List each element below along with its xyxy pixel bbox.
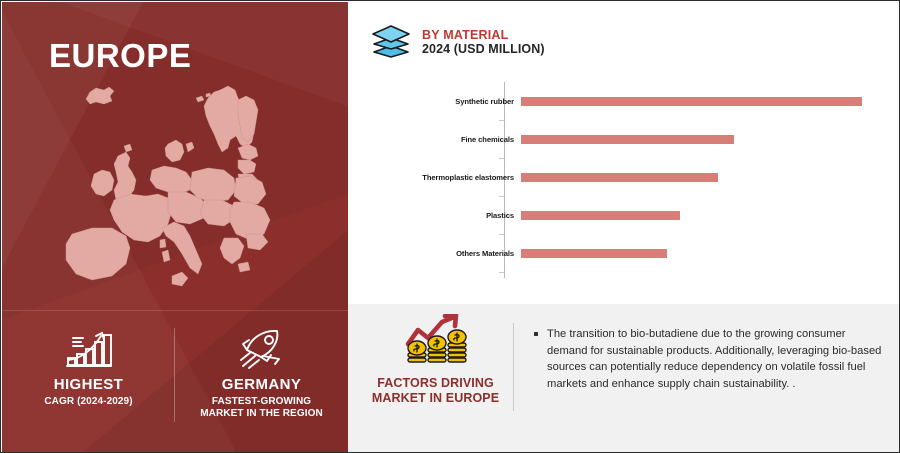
chart-category-label: Thermoplastic elastomers [370, 173, 520, 182]
chart-header: BY MATERIAL 2024 (USD MILLION) [370, 22, 545, 63]
chart-category-label: Others Materials [370, 249, 520, 258]
stat-highest-cagr: HIGHEST CAGR (2024-2029) [2, 322, 175, 442]
chart-bar-row: Thermoplastic elastomers [370, 158, 880, 196]
page-title: EUROPE [49, 37, 191, 75]
stacked-layers-icon [370, 22, 412, 63]
factors-heading-block: FACTORS DRIVING MARKET IN EUROPE [358, 314, 513, 406]
factors-panel: FACTORS DRIVING MARKET IN EUROPE The tra… [348, 304, 900, 453]
europe-map-icon [52, 82, 302, 304]
stat-title: GERMANY [222, 376, 301, 393]
chart-bar[interactable] [521, 97, 862, 106]
factor-text: The transition to bio-butadiene due to t… [547, 326, 884, 392]
stat-subtitle: FASTEST-GROWING MARKET IN THE REGION [200, 396, 323, 420]
chart-category-label: Fine chemicals [370, 135, 520, 144]
chart-bar-track [520, 82, 880, 120]
factor-list-item: The transition to bio-butadiene due to t… [534, 326, 884, 392]
chart-bar[interactable] [521, 249, 667, 258]
factors-caption: FACTORS DRIVING MARKET IN EUROPE [372, 376, 499, 406]
factors-list: The transition to bio-butadiene due to t… [534, 326, 884, 392]
money-growth-arrow-icon [398, 314, 474, 372]
left-panel-divider [2, 310, 348, 311]
factors-caption-line2: MARKET IN EUROPE [372, 391, 499, 405]
chart-header-text: BY MATERIAL 2024 (USD MILLION) [422, 29, 545, 56]
chart-plot-area: Synthetic rubberFine chemicalsThermoplas… [370, 82, 880, 282]
chart-bar[interactable] [521, 135, 734, 144]
chart-bar[interactable] [521, 173, 718, 182]
factors-divider [513, 323, 514, 411]
chart-bar-row: Synthetic rubber [370, 82, 880, 120]
chart-bar-row: Others Materials [370, 234, 880, 272]
chart-bar-track [520, 234, 880, 272]
chart-subtitle: 2024 (USD MILLION) [422, 43, 545, 56]
stat-subtitle-line1: FASTEST-GROWING [212, 396, 311, 407]
stat-subtitle-line2: MARKET IN THE REGION [200, 408, 323, 419]
factors-caption-line1: FACTORS DRIVING [377, 376, 494, 390]
chart-bar-track [520, 196, 880, 234]
stat-fastest-growing-country: GERMANY FASTEST-GROWING MARKET IN THE RE… [175, 322, 348, 442]
stat-subtitle: CAGR (2024-2029) [44, 396, 132, 408]
chart-bar[interactable] [521, 211, 680, 220]
bullet-icon [534, 332, 538, 336]
rocket-icon [233, 326, 291, 372]
region-panel: EUROPE [2, 2, 348, 453]
chart-bar-track [520, 120, 880, 158]
chart-title: BY MATERIAL [422, 29, 545, 42]
chart-bar-row: Fine chemicals [370, 120, 880, 158]
chart-bar-row: Plastics [370, 196, 880, 234]
infographic-frame: EUROPE [0, 0, 900, 453]
stat-title: HIGHEST [54, 376, 123, 393]
chart-bar-track [520, 158, 880, 196]
chart-category-label: Synthetic rubber [370, 97, 520, 106]
growth-bar-chart-arrow-icon [61, 326, 117, 372]
chart-category-label: Plastics [370, 211, 520, 220]
chart-panel: BY MATERIAL 2024 (USD MILLION) Synthetic… [348, 2, 900, 304]
region-stats-row: HIGHEST CAGR (2024-2029) [2, 322, 348, 442]
